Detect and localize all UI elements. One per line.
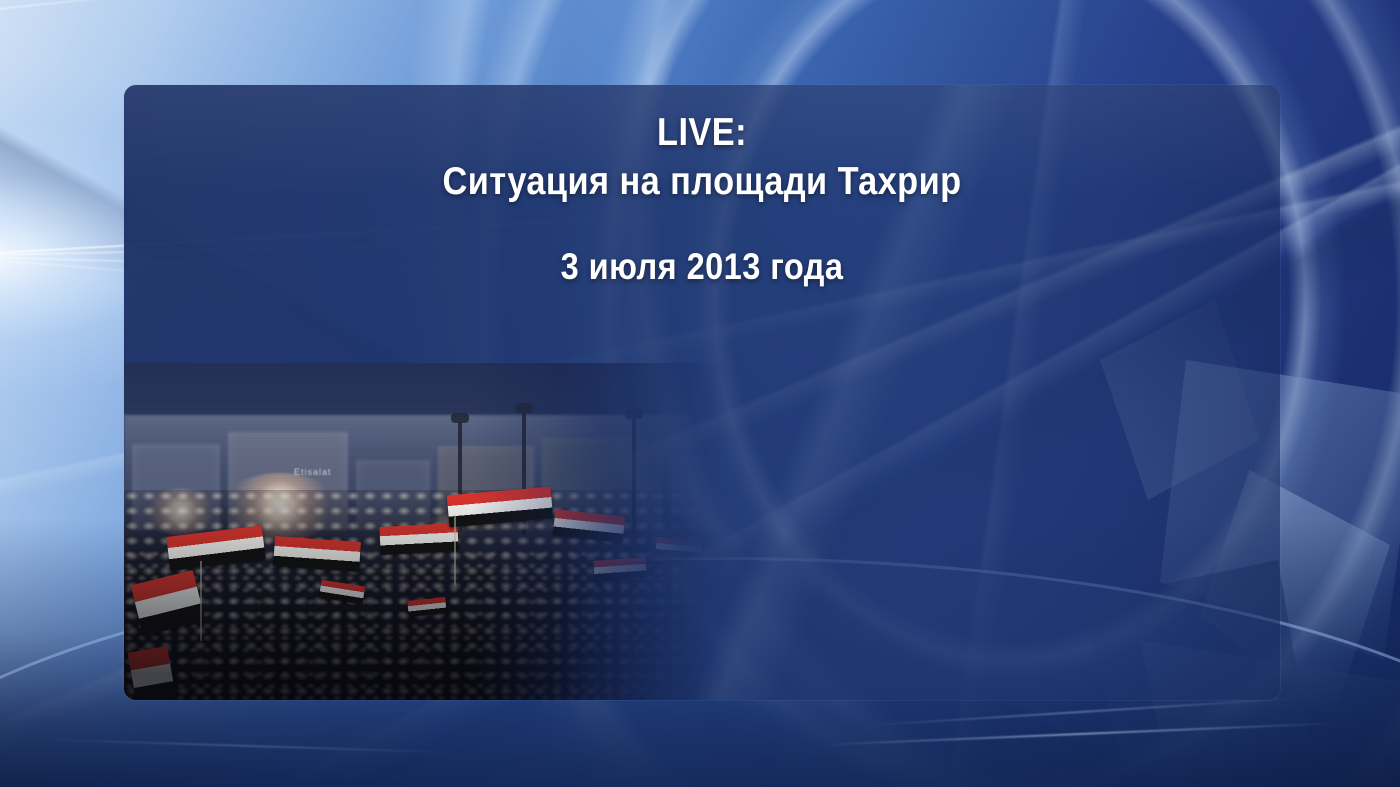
broadcast-slide: Etisalat [0,0,1400,787]
photo-fade-mask [124,363,724,700]
broadcast-date: 3 июля 2013 года [193,246,1210,288]
headline-block: LIVE: Ситуация на площади Тахрир 3 июля … [124,113,1280,288]
content-panel: Etisalat [124,85,1280,700]
page-title: Ситуация на площади Тахрир [193,154,1210,211]
tahrir-square-photo: Etisalat [124,363,724,700]
live-badge: LIVE: [193,113,1210,154]
